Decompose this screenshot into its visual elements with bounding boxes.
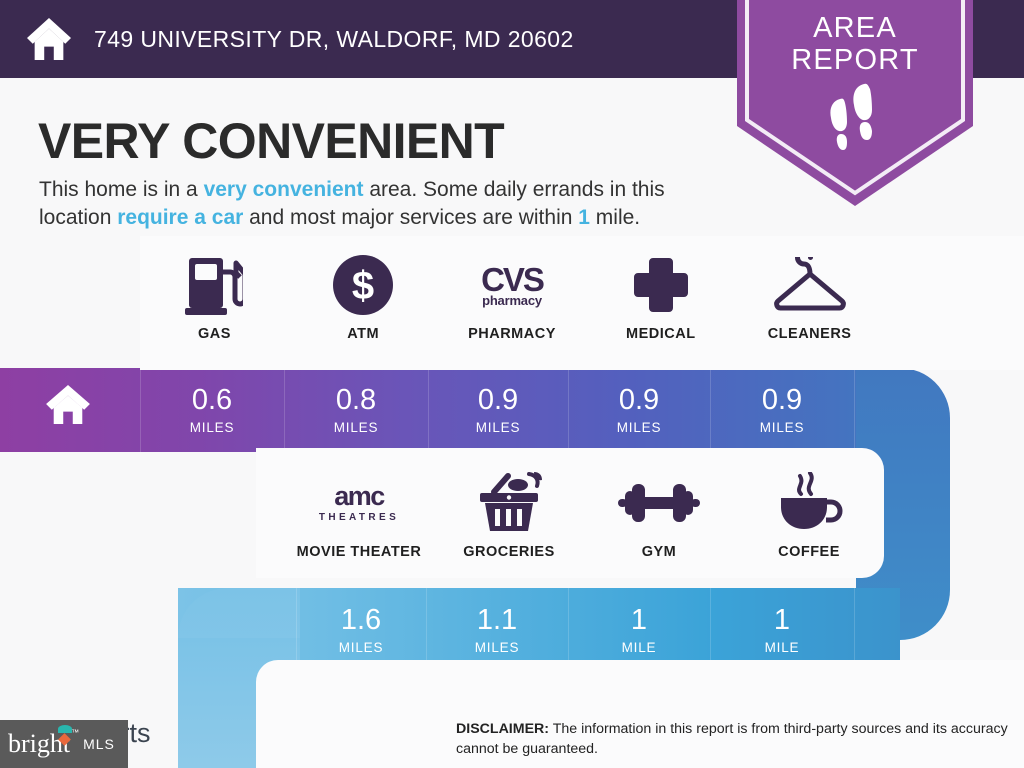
- grocery-basket-icon: [474, 470, 544, 536]
- bright-mls-watermark: bright ™ MLS: [0, 720, 128, 768]
- category-label: COFFEE: [778, 544, 840, 560]
- distance-unit: MILES: [334, 420, 379, 435]
- area-report-badge: AREA REPORT: [737, 0, 973, 206]
- distance-value: 1.1: [477, 606, 517, 635]
- distance-value: 1: [631, 606, 647, 635]
- summary-highlight-1: very convenient: [204, 178, 364, 201]
- home-icon: [26, 17, 72, 61]
- summary-highlight-2: require a car: [117, 206, 243, 229]
- category-label: GAS: [198, 326, 231, 342]
- category-label: GYM: [642, 544, 677, 560]
- category-medical[interactable]: MEDICAL: [586, 252, 735, 364]
- watermark-tm: ™: [71, 729, 79, 737]
- coffee-cup-icon: [775, 470, 843, 536]
- category-label: GROCERIES: [463, 544, 555, 560]
- distance-unit: MILES: [476, 420, 521, 435]
- cvs-pharmacy-logo-icon: CVS pharmacy: [481, 252, 543, 318]
- medical-cross-icon: [632, 252, 690, 318]
- distance-cleaners[interactable]: 0.9 MILES: [710, 368, 854, 452]
- distance-value: 0.9: [478, 386, 518, 415]
- svg-text:$: $: [352, 264, 374, 308]
- dumbbell-icon: [616, 470, 702, 536]
- category-movie-theater[interactable]: amc THEATRES MOVIE THEATER: [284, 470, 434, 580]
- category-label: CLEANERS: [768, 326, 852, 342]
- summary-highlight-3: 1: [578, 206, 590, 229]
- disclaimer: DISCLAIMER: The information in this repo…: [456, 720, 1008, 759]
- watermark-suffix: MLS: [83, 736, 115, 752]
- distance-pharmacy[interactable]: 0.9 MILES: [428, 368, 568, 452]
- summary-text-3: and most major services are within: [243, 206, 578, 229]
- watermark-brand: bright ™: [8, 731, 70, 757]
- distance-unit: MILES: [617, 420, 662, 435]
- distance-unit: MILES: [190, 420, 235, 435]
- disclaimer-label: DISCLAIMER:: [456, 721, 549, 737]
- category-label: MOVIE THEATER: [297, 544, 422, 560]
- category-label: ATM: [347, 326, 379, 342]
- watermark-teal-accent-icon: [58, 725, 72, 733]
- category-pharmacy[interactable]: CVS pharmacy PHARMACY: [438, 252, 587, 364]
- distance-value: 0.6: [192, 386, 232, 415]
- icon-row-2: amc THEATRES MOVIE THEATER: [284, 470, 884, 580]
- category-label: PHARMACY: [468, 326, 556, 342]
- distance-atm[interactable]: 0.8 MILES: [284, 368, 428, 452]
- summary-text: This home is in a very convenient area. …: [39, 176, 729, 232]
- distance-value: 0.9: [762, 386, 802, 415]
- distance-unit: MILES: [760, 420, 805, 435]
- page-title: VERY CONVENIENT: [38, 112, 504, 170]
- category-groceries[interactable]: GROCERIES: [434, 470, 584, 580]
- badge-shape-icon: [737, 0, 973, 206]
- summary-text-4: mile.: [590, 206, 640, 229]
- distance-coffee[interactable]: 1 MILE: [710, 588, 854, 672]
- clothes-hanger-icon: [771, 252, 849, 318]
- home-marker-icon: [44, 385, 92, 425]
- dollar-circle-icon: $: [332, 252, 394, 318]
- distance-unit: MILES: [475, 640, 520, 655]
- gas-pump-icon: [185, 252, 243, 318]
- watermark-brand-text: bright: [8, 729, 70, 758]
- cell-divider: [854, 368, 855, 452]
- distance-value: 1: [774, 606, 790, 635]
- distance-gas[interactable]: 0.6 MILES: [140, 368, 284, 452]
- distance-value: 0.8: [336, 386, 376, 415]
- icon-row-1: GAS $ ATM CVS pharmacy PHARMACY: [140, 252, 884, 364]
- distance-groceries[interactable]: 1.1 MILES: [426, 588, 568, 672]
- distance-value: 0.9: [619, 386, 659, 415]
- category-gas[interactable]: GAS: [140, 252, 289, 364]
- category-coffee[interactable]: COFFEE: [734, 470, 884, 580]
- header-address: 749 UNIVERSITY DR, WALDORF, MD 20602: [94, 26, 574, 53]
- area-report-page: 749 UNIVERSITY DR, WALDORF, MD 20602 ARE…: [0, 0, 1024, 768]
- distance-movie-theater[interactable]: 1.6 MILES: [296, 588, 426, 672]
- distance-unit: MILE: [622, 640, 657, 655]
- category-gym[interactable]: GYM: [584, 470, 734, 580]
- distance-unit: MILE: [765, 640, 800, 655]
- distance-value: 1.6: [341, 606, 381, 635]
- category-label: MEDICAL: [626, 326, 696, 342]
- distance-medical[interactable]: 0.9 MILES: [568, 368, 710, 452]
- distance-unit: MILES: [339, 640, 384, 655]
- summary-text-1: This home is in a: [39, 178, 204, 201]
- distance-gym[interactable]: 1 MILE: [568, 588, 710, 672]
- category-cleaners[interactable]: CLEANERS: [735, 252, 884, 364]
- category-atm[interactable]: $ ATM: [289, 252, 438, 364]
- amc-theatres-logo-icon: amc THEATRES: [319, 470, 399, 536]
